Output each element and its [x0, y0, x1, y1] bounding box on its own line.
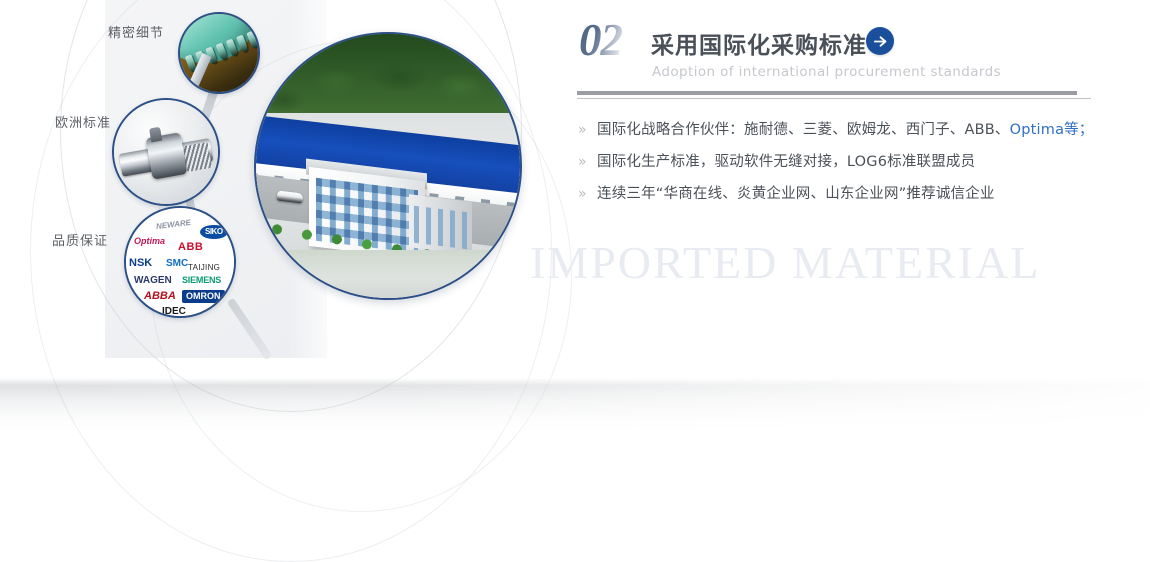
ball-screw-photo — [112, 98, 220, 206]
watermark-text: IMPORTED MATERIAL — [530, 236, 1040, 289]
list-item-text: 国际化战略合作伙伴：施耐德、三菱、欧姆龙、西门子、ABB、Optima等； — [597, 118, 1094, 139]
arrow-right-icon[interactable] — [866, 27, 894, 55]
brand-taijing: TAIJING — [188, 264, 220, 272]
divider-thin — [577, 98, 1091, 99]
brand-nsk: NSK — [129, 258, 152, 269]
list-item-text: 国际化生产标准，驱动软件无缝对接，LOG6标准联盟成员 — [597, 150, 975, 171]
brand-omron: OMRON — [182, 290, 225, 303]
list-item: » 国际化战略合作伙伴：施耐德、三菱、欧姆龙、西门子、ABB、Optima等； — [575, 118, 1135, 140]
brand-abb: ABB — [178, 242, 203, 253]
label-precision-detail: 精密细节 — [108, 22, 164, 41]
section-number: 02 — [579, 18, 622, 63]
list-item-text-main: 国际化战略合作伙伴：施耐德、三菱、欧姆龙、西门子、ABB、 — [597, 122, 1010, 138]
gear-macro-photo — [178, 12, 260, 94]
divider-thick — [577, 91, 1077, 95]
photo-lawn — [256, 250, 520, 298]
brand-idec: IDEC — [162, 307, 186, 317]
screw-thread — [183, 142, 212, 172]
list-item: » 连续三年“华商在线、炎黄企业网、山东企业网”推荐诚信企业 — [575, 182, 1135, 204]
chevron-double-right-icon: » — [575, 186, 597, 202]
brand-wagen: WAGEN — [134, 276, 172, 286]
brand-abba: ABBA — [144, 291, 176, 302]
section-title-en: Adoption of international procurement st… — [652, 64, 1001, 80]
brand-smc: SMC — [166, 259, 188, 269]
gear-tooth — [225, 38, 238, 56]
label-quality-guarantee: 品质保证 — [52, 230, 108, 249]
list-item-text-main: 连续三年“华商在线、炎黄企业网、山东企业网”推荐诚信企业 — [597, 186, 995, 202]
list-item-text: 连续三年“华商在线、炎黄企业网、山东企业网”推荐诚信企业 — [597, 182, 995, 203]
list-item-text-main: 国际化生产标准，驱动软件无缝对接，LOG6标准联盟成员 — [597, 154, 975, 170]
chevron-double-right-icon: » — [575, 154, 597, 170]
list-item: » 国际化生产标准，驱动软件无缝对接，LOG6标准联盟成员 — [575, 150, 1135, 172]
feature-list: » 国际化战略合作伙伴：施耐德、三菱、欧姆龙、西门子、ABB、Optima等； … — [575, 118, 1135, 214]
chevron-double-right-icon: » — [575, 122, 597, 138]
gear-tooth — [215, 42, 228, 60]
content-column: 02 采用国际化采购标准 Adoption of international p… — [575, 0, 1135, 430]
brand-siemens: SIEMENS — [182, 276, 221, 285]
label-european-standard: 欧洲标准 — [55, 112, 111, 131]
factory-aerial-photo — [254, 32, 522, 300]
brand-optima: Optima — [134, 237, 165, 246]
brand-siko: SIKO — [200, 225, 228, 239]
list-item-text-highlight: Optima等； — [1010, 122, 1094, 138]
gear-tooth — [236, 34, 249, 52]
section-title-cn: 采用国际化采购标准 — [651, 26, 867, 60]
brand-logos-collage: NEWARE SIKO Optima ABB NSK SMC TAIJING W… — [124, 206, 236, 318]
